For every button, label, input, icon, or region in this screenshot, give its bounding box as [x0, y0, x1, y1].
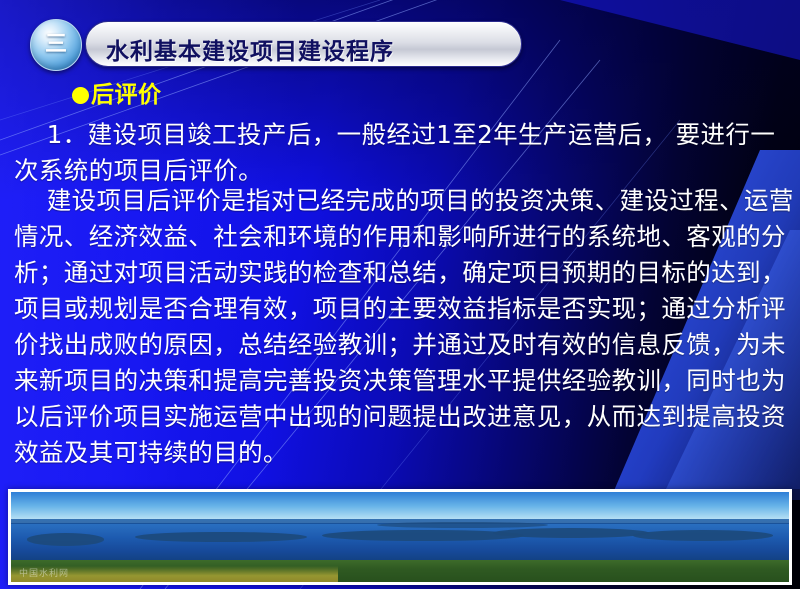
landscape-photo: 中国水利网 — [11, 492, 789, 582]
body-paragraph-1: 1．建设项目竣工投产后，一般经过1至2年生产运营后， 要进行一次系统的项目后评价… — [14, 117, 794, 189]
section-number-glyph: 三 — [45, 34, 67, 56]
yellow-dot-bullet-icon — [72, 87, 89, 104]
page-title: 水利基本建设项目建设程序 — [106, 32, 394, 66]
section-number-icon: 三 — [30, 19, 82, 71]
body-paragraph-2: 建设项目后评价是指对已经完成的项目的投资决策、建设过程、运营情况、经济效益、社会… — [14, 183, 800, 471]
presentation-slide: 水利基本建设项目建设程序 三 后评价 1．建设项目竣工投产后，一般经过1至2年生… — [0, 0, 800, 589]
section-heading: 后评价 — [72, 84, 162, 107]
section-heading-label: 后评价 — [91, 84, 162, 107]
photo-sky — [11, 492, 789, 523]
photo-island — [633, 530, 773, 541]
photo-watermark: 中国水利网 — [19, 566, 69, 579]
photo-island — [493, 528, 649, 538]
photo-island — [27, 533, 105, 546]
landscape-photo-frame: 中国水利网 — [8, 489, 792, 585]
slide-title-bar: 水利基本建设项目建设程序 三 — [30, 19, 522, 69]
photo-island — [377, 522, 548, 528]
